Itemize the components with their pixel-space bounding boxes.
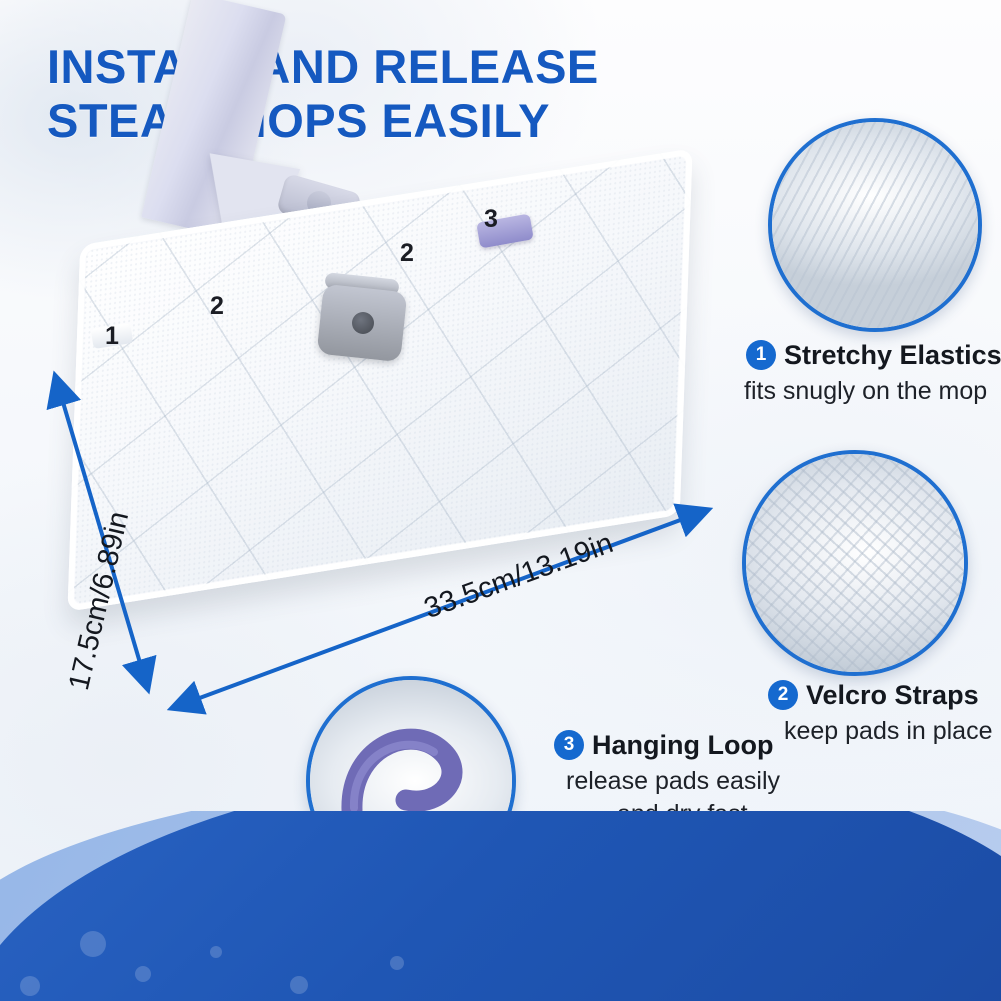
feature-2-badge: 2 [768, 680, 798, 710]
feature-1-badge: 1 [746, 340, 776, 370]
feature-3-badge: 3 [554, 730, 584, 760]
feature-2-photo-image [746, 454, 964, 672]
feature-2-subtitle: keep pads in place [784, 717, 992, 746]
marker-2b: 2 [400, 239, 414, 268]
marker-2a: 2 [210, 292, 224, 321]
product-infographic: INSTALL AND RELEASE STEAM MOPS EASILY 1 … [0, 0, 1001, 1001]
headline-line-1: INSTALL AND RELEASE [47, 40, 599, 93]
marker-1: 1 [105, 322, 119, 351]
feature-3-title: Hanging Loop [592, 730, 773, 761]
bubble-2 [135, 966, 151, 982]
mop-illustration [30, 130, 730, 730]
bubble-1 [80, 931, 106, 957]
feature-1-title: Stretchy Elastics [784, 340, 1001, 371]
feature-2-title: Velcro Straps [806, 680, 979, 711]
bubble-3 [20, 976, 40, 996]
bottom-band [0, 811, 1001, 1001]
mop-joint-screw [352, 312, 374, 334]
marker-3: 3 [484, 205, 498, 234]
bubble-5 [290, 976, 308, 994]
feature-1-photo [768, 118, 982, 332]
feature-3-subtitle-line-1: release pads easily [566, 767, 780, 796]
bubble-6 [390, 956, 404, 970]
feature-2-photo [742, 450, 968, 676]
bubble-4 [210, 946, 222, 958]
feature-1-photo-image [772, 122, 978, 328]
feature-1-subtitle: fits snugly on the mop [744, 377, 987, 406]
